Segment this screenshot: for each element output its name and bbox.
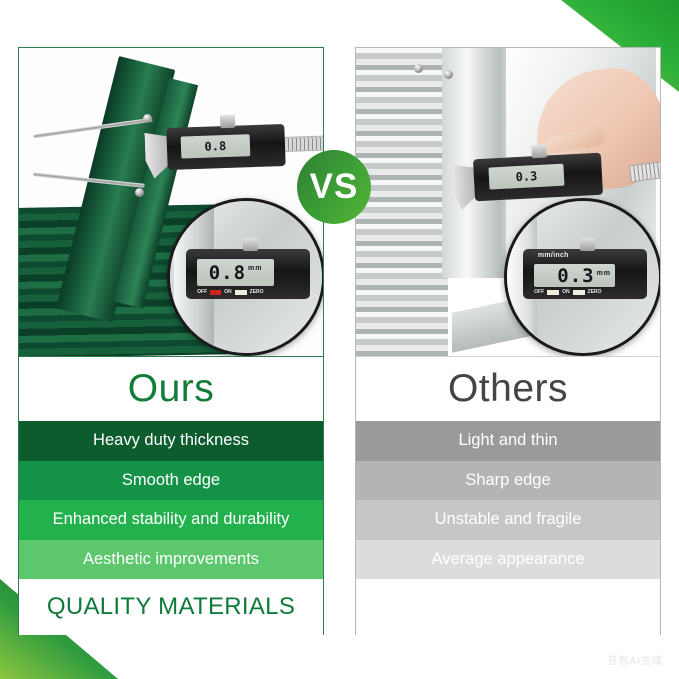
vs-badge-label: VS [310, 167, 359, 207]
feature-row-ours-1: Heavy duty thickness [19, 421, 323, 461]
comparison-infographic: 0.8 0.8 mm OFF ON [0, 0, 679, 679]
feature-label: Average appearance [432, 550, 585, 569]
feature-label: Aesthetic improvements [83, 550, 259, 569]
magnifier-bubble-others: mm/inch 0.3 mm OFF ON ZERO [504, 198, 660, 356]
caliper-zero-button [573, 290, 585, 295]
caliper-display: 0.8 mm [197, 259, 274, 286]
watermark: 豆包AI生成 [608, 652, 663, 667]
caliper-button-row: OFF ON ZERO [197, 288, 284, 297]
caliper-zero-label: ZERO [588, 289, 602, 295]
caliper-display-value: 0.8 [209, 262, 246, 284]
caliper-thumb-wheel [243, 238, 258, 251]
caliper-off-label: OFF [197, 289, 207, 295]
feature-row-others-3: Unstable and fragile [356, 500, 660, 540]
caliper-display-unit: mm [248, 265, 262, 272]
caliper-power-switch [210, 290, 221, 295]
feature-row-others-1: Light and thin [356, 421, 660, 461]
screw-icon [414, 64, 423, 73]
vs-badge: VS [297, 150, 371, 224]
caliper-display-value: 0.3 [489, 164, 564, 190]
caliper-unit-toggle-label: mm/inch [538, 252, 569, 259]
digital-caliper-magnified-ours: 0.8 mm OFF ON ZERO [186, 249, 310, 299]
caliper-display: 0.3 mm [534, 264, 615, 287]
feature-label: Enhanced stability and durability [53, 510, 290, 529]
digital-caliper-small-others: 0.3 [473, 153, 603, 202]
screw-icon [444, 70, 453, 79]
footer-quality-materials: QUALITY MATERIALS [19, 579, 323, 635]
caliper-zero-button [235, 290, 247, 295]
screw-icon [135, 188, 144, 197]
feature-row-others-4: Average appearance [356, 540, 660, 580]
column-title-others: Others [356, 357, 660, 421]
caliper-button-row: OFF ON ZERO [534, 288, 621, 297]
caliper-on-label: ON [562, 289, 570, 295]
column-title-ours: Ours [19, 357, 323, 421]
galvanized-corrugated-panel [356, 48, 448, 356]
digital-caliper-small-ours: 0.8 [166, 124, 285, 170]
digital-caliper-magnified-others: mm/inch 0.3 mm OFF ON ZERO [523, 249, 647, 299]
product-photo-others: 0.3 mm/inch 0.3 mm OFF ON [356, 48, 660, 356]
caliper-thumb-wheel [220, 115, 235, 129]
magnifier-bubble-ours: 0.8 mm OFF ON ZERO [167, 198, 323, 356]
caliper-thumb-wheel [531, 145, 547, 159]
caliper-display-value: 0.3 [557, 265, 594, 287]
label-area-ours: Ours Heavy duty thickness Smooth edge En… [19, 356, 323, 635]
feature-row-ours-3: Enhanced stability and durability [19, 500, 323, 540]
feature-label: Unstable and fragile [435, 510, 582, 529]
caliper-display-unit: mm [597, 270, 611, 277]
feature-label: Light and thin [458, 431, 557, 450]
feature-row-ours-4: Aesthetic improvements [19, 540, 323, 580]
caliper-power-switch [547, 290, 559, 295]
caliper-thumb-wheel [580, 238, 595, 251]
footer-others-empty [356, 579, 660, 635]
feature-row-others-2: Sharp edge [356, 461, 660, 501]
caliper-scale-rail [280, 135, 323, 153]
comparison-card-others: 0.3 mm/inch 0.3 mm OFF ON [355, 47, 661, 635]
caliper-display-value: 0.8 [181, 134, 250, 158]
caliper-on-label: ON [224, 289, 232, 295]
screw-icon [143, 114, 152, 123]
feature-label: Sharp edge [465, 471, 550, 490]
feature-label: Heavy duty thickness [93, 431, 249, 450]
product-photo-ours: 0.8 0.8 mm OFF ON [19, 48, 323, 356]
label-area-others: Others Light and thin Sharp edge Unstabl… [356, 356, 660, 635]
feature-label: Smooth edge [122, 471, 220, 490]
caliper-off-label: OFF [534, 289, 544, 295]
comparison-card-ours: 0.8 0.8 mm OFF ON [18, 47, 324, 635]
feature-row-ours-2: Smooth edge [19, 461, 323, 501]
caliper-zero-label: ZERO [250, 289, 264, 295]
